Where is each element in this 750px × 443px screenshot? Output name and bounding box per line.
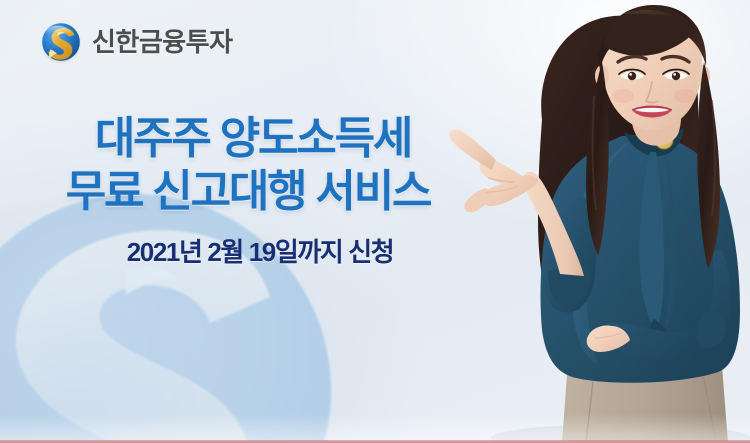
headline-block: 대주주 양도소득세 무료 신고대행 서비스	[0, 116, 500, 215]
shinhan-globe-icon	[41, 22, 81, 62]
background-vignette	[0, 0, 750, 443]
brand-logo: 신한금융투자	[41, 22, 233, 62]
bottom-fade	[0, 414, 750, 440]
headline-line-2: 무료 신고대행 서비스	[0, 169, 500, 214]
promo-banner: 신한금융투자 대주주 양도소득세 무료 신고대행 서비스 2021년 2월 19…	[0, 0, 750, 443]
brand-name: 신한금융투자	[92, 29, 233, 55]
headline-line-1: 대주주 양도소득세	[6, 116, 500, 161]
subtitle-text: 2021년 2월 19일까지 신청	[10, 232, 510, 269]
